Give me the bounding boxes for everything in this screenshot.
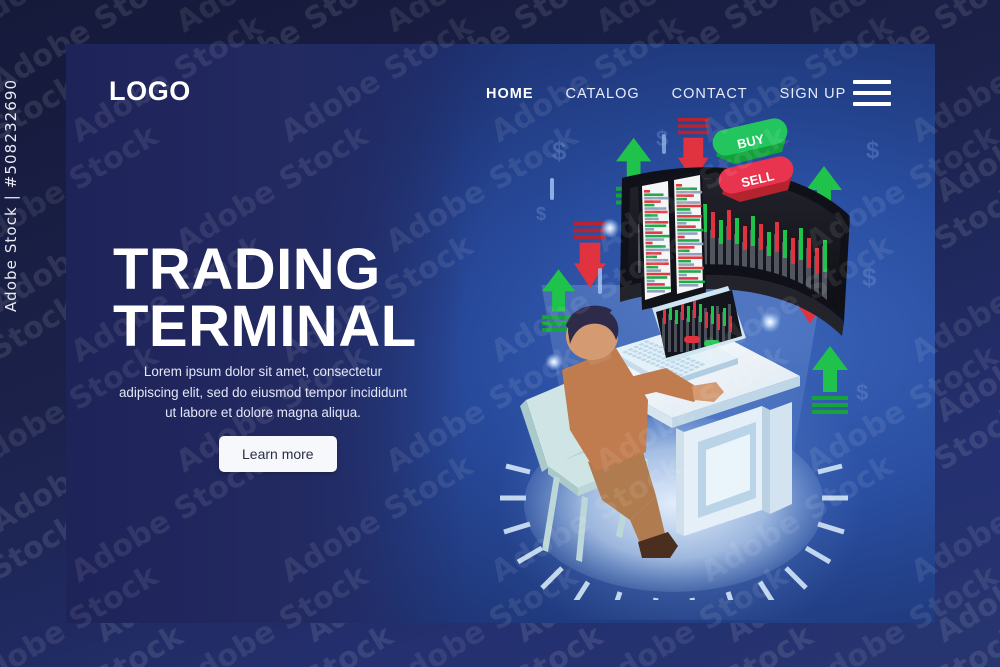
order-book-row [644,190,650,193]
order-book-row [647,290,665,293]
order-book-row [678,256,703,259]
order-book-row [646,256,657,259]
order-book-row [645,218,659,221]
order-book-row [646,252,662,255]
order-book-row [676,184,682,187]
order-book-row [647,280,655,283]
order-book-row [676,198,687,201]
order-book-row [678,260,691,263]
site-logo[interactable]: LOGO [109,76,191,107]
order-book-row [646,266,658,269]
order-book-panel [638,170,706,310]
order-book-row [646,262,669,265]
order-book-row [645,214,658,217]
stock-credit-label: Adobe Stock | #508232690 [2,79,20,312]
order-book-row [645,211,668,214]
order-book-row [677,232,697,235]
order-book-row [645,207,667,210]
order-book-row [676,187,697,190]
order-book-row [677,208,691,211]
order-book-row [647,276,668,279]
order-book-row [677,225,696,228]
order-book-row [645,228,654,231]
order-book-row [644,200,660,203]
order-book-row [678,253,702,256]
hamburger-bar-2 [853,91,891,95]
order-book-row [646,269,661,272]
order-book-row [676,194,694,197]
svg-text:$: $ [856,380,868,405]
order-book-row [678,243,704,246]
order-book-row [677,222,686,225]
order-book-row [647,283,665,286]
svg-text:$: $ [866,137,880,164]
learn-more-button[interactable]: Learn more [219,436,337,472]
svg-text:$: $ [862,262,877,292]
order-book-row [646,245,666,248]
order-book-row [645,235,669,238]
order-book-row [679,270,701,273]
screenshot-stage: Adobe StockAdobe StockAdobe StockAdobe S… [0,0,1000,667]
order-book-row [645,231,662,234]
order-book-row [645,238,664,241]
order-book-row [644,197,668,200]
order-book-row [678,267,704,270]
trading-illustration: $ $ $ $ $ $ [470,100,890,600]
order-book-row [678,236,685,239]
order-book-row [678,250,690,253]
hero-paragraph: Lorem ipsum dolor sit amet, consectetur … [113,362,413,423]
order-book-row [677,212,692,215]
order-book-row [677,218,700,221]
order-book-row [677,229,703,232]
order-book-row [645,224,666,227]
order-book-row [646,259,668,262]
order-book-row [677,205,702,208]
order-book-row [679,281,705,284]
order-book-row [646,273,670,276]
svg-text:$: $ [552,136,567,166]
order-book-row [679,274,687,277]
order-book-row [646,242,653,245]
order-book-row [645,221,668,224]
order-book-row [646,249,670,252]
order-book-row [676,191,702,194]
order-book-row [679,277,698,280]
order-book-row [677,215,702,218]
hamburger-bar-1 [853,80,891,84]
order-book-row [679,284,698,287]
svg-text:$: $ [536,204,546,224]
order-book-row [677,201,701,204]
order-book-row [678,246,695,249]
order-book-row [644,204,654,207]
order-book-row [647,287,671,290]
order-book-row [678,263,694,266]
order-book-row [678,239,700,242]
order-book-row [644,193,663,196]
